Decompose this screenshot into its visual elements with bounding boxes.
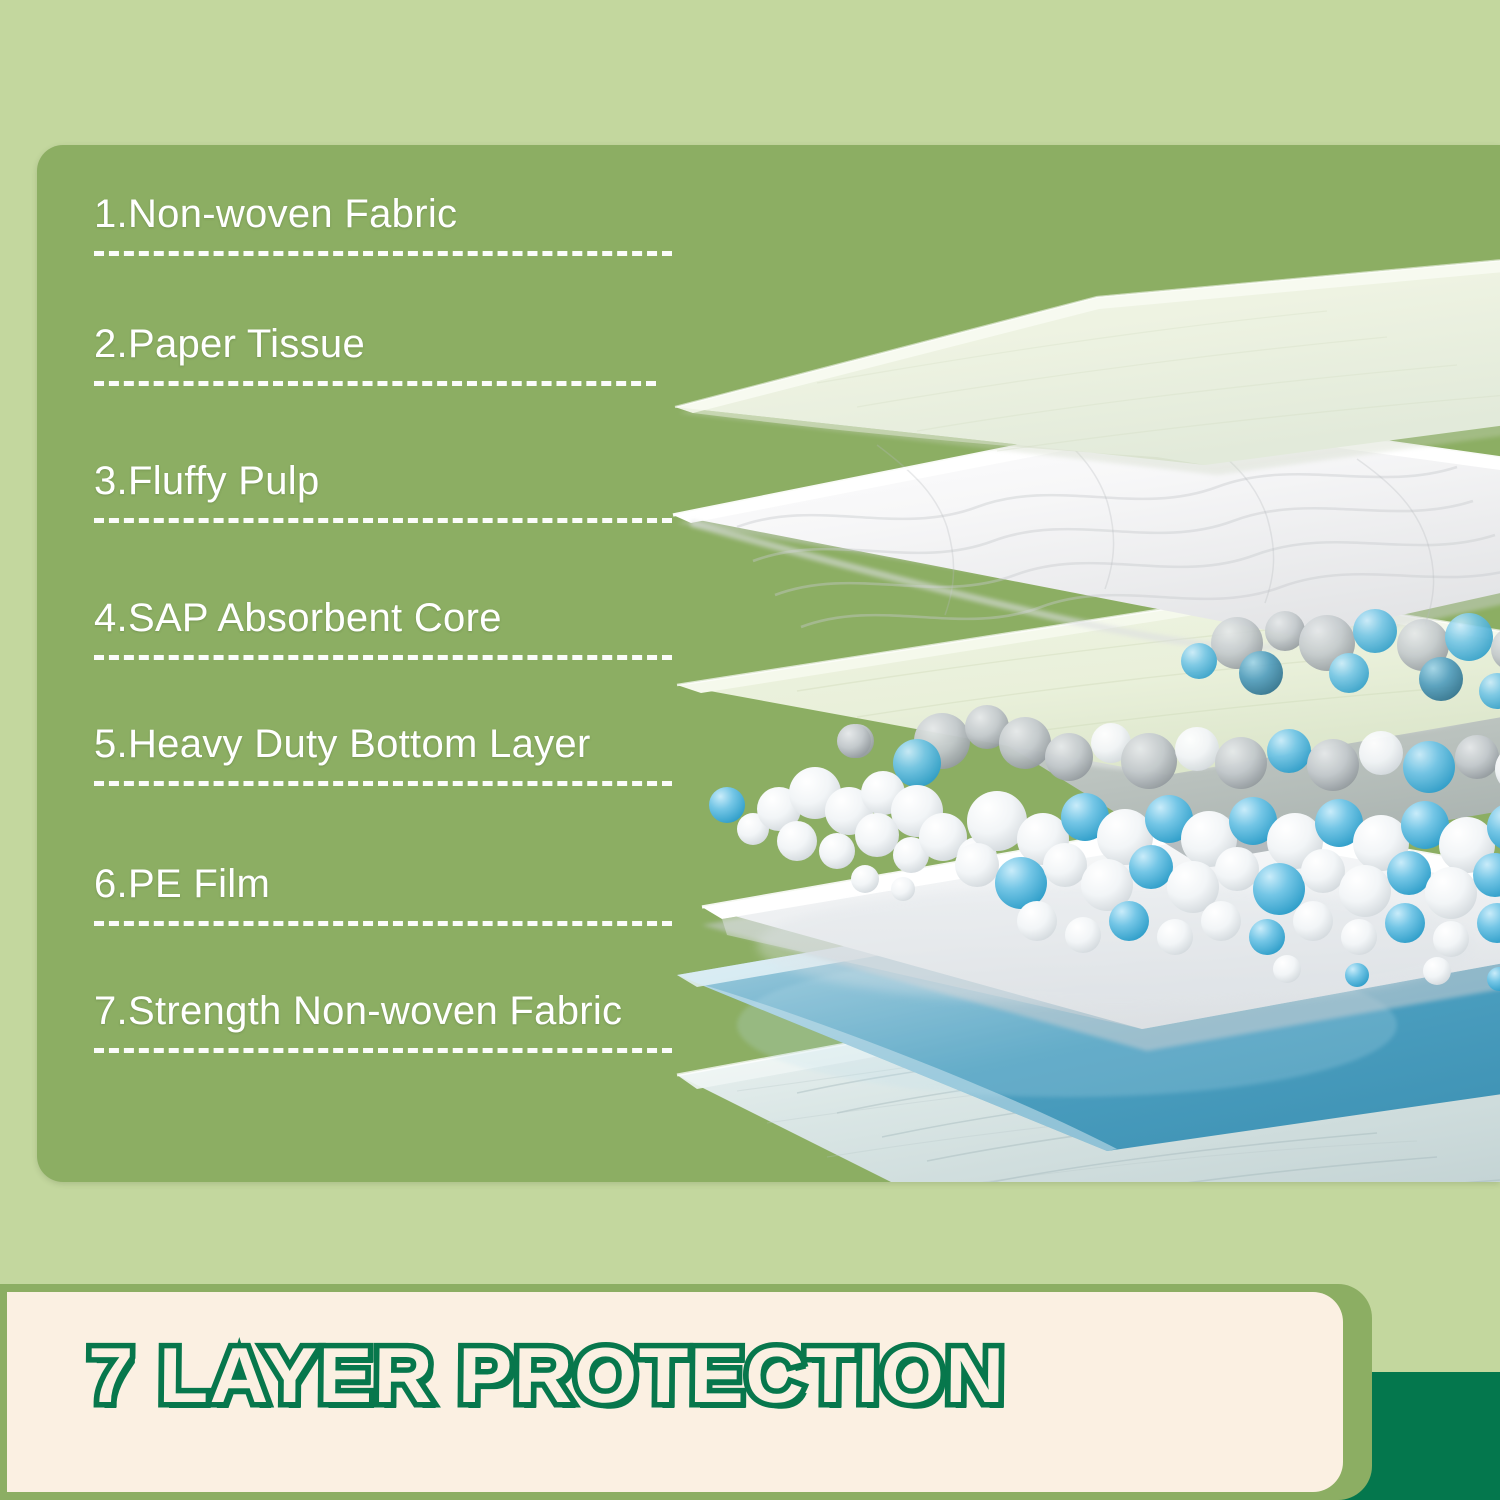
leader-line-6 <box>94 921 672 926</box>
banner-title: 7 LAYER PROTECTION <box>88 1330 1006 1421</box>
layer-label-2-text: 2.Paper Tissue <box>94 323 694 365</box>
layer-2-shape <box>673 413 1500 648</box>
leader-line-2 <box>94 381 656 386</box>
leader-line-4 <box>94 655 672 660</box>
sap-bead-cloud <box>709 609 1500 991</box>
layer-1-shape <box>675 257 1500 475</box>
layer-4-shape <box>942 645 1500 863</box>
layer-diagram-card: 1.Non-woven Fabric 2.Paper Tissue 3.Fluf… <box>37 145 1500 1182</box>
layer-label-3-text: 3.Fluffy Pulp <box>94 460 694 502</box>
layer-label-6: 6.PE Film <box>94 863 694 926</box>
layer-5-shape <box>702 817 1500 1051</box>
layer-label-3: 3.Fluffy Pulp <box>94 460 694 523</box>
stray-bead <box>837 724 871 758</box>
layer-7-shape <box>677 983 1500 1182</box>
leader-line-1 <box>94 251 672 256</box>
layer-label-5: 5.Heavy Duty Bottom Layer <box>94 723 694 786</box>
layer-label-2: 2.Paper Tissue <box>94 323 694 386</box>
layer-label-4: 4.SAP Absorbent Core <box>94 597 694 660</box>
layer-label-7-text: 7.Strength Non-woven Fabric <box>94 990 694 1032</box>
layer-label-1-text: 1.Non-woven Fabric <box>94 193 694 235</box>
layer-3-shape <box>677 593 1500 775</box>
layer-label-6-text: 6.PE Film <box>94 863 694 905</box>
layer-label-5-text: 5.Heavy Duty Bottom Layer <box>94 723 694 765</box>
leader-line-3 <box>94 518 672 523</box>
layer-6-shape <box>677 887 1500 1151</box>
layer-label-7: 7.Strength Non-woven Fabric <box>94 990 694 1053</box>
leader-line-5 <box>94 781 672 786</box>
layer-label-4-text: 4.SAP Absorbent Core <box>94 597 694 639</box>
infographic-canvas: 1.Non-woven Fabric 2.Paper Tissue 3.Fluf… <box>0 0 1500 1500</box>
layer-label-1: 1.Non-woven Fabric <box>94 193 694 256</box>
leader-line-7 <box>94 1048 672 1053</box>
